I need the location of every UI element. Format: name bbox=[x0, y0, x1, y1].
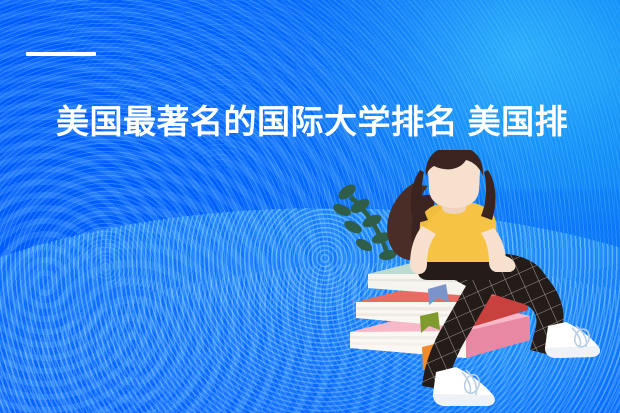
shoe-upper bbox=[545, 322, 600, 358]
page-title: 美国最著名的国际大学排名 美国排 bbox=[56, 103, 620, 142]
shoe-lower bbox=[433, 367, 495, 406]
banner-card: 美国最著名的国际大学排名 美国排 bbox=[0, 0, 620, 413]
accent-rule bbox=[26, 52, 96, 56]
illustration-woman-on-books bbox=[316, 150, 620, 413]
